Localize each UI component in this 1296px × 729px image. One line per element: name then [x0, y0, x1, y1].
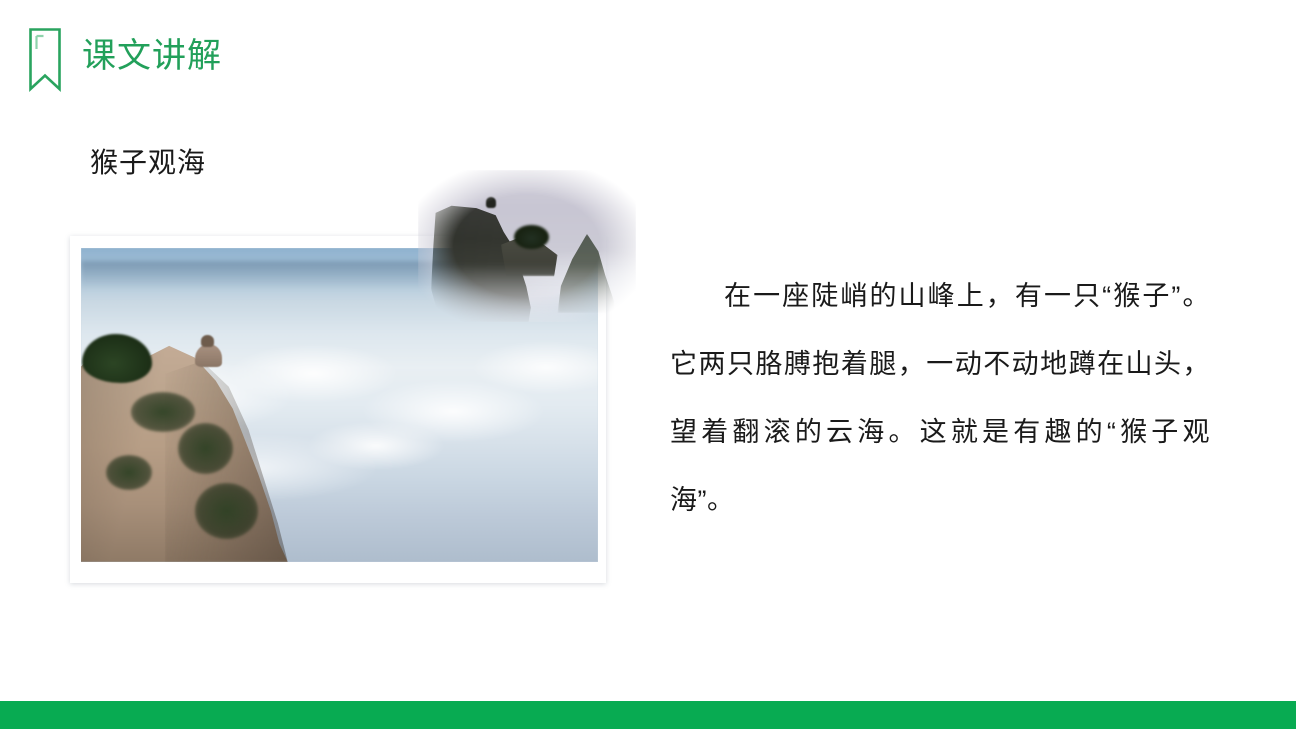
- cliff-vegetation-shape: [178, 423, 233, 474]
- slide-header: 课文讲解: [0, 0, 1296, 112]
- mist-layer: [418, 264, 636, 322]
- cliff-vegetation-shape: [106, 455, 153, 490]
- photo-group: [60, 160, 660, 600]
- cliff-vegetation-shape: [195, 483, 259, 539]
- monkey-rock-shape: [195, 344, 223, 367]
- bookmark-icon: [28, 27, 62, 92]
- peak-pine-shape: [514, 225, 549, 249]
- monkey-head-shape: [201, 335, 214, 347]
- page-title: 课文讲解: [82, 34, 222, 78]
- peak-monkey-shape: [486, 197, 497, 208]
- misty-peak-photo: [418, 170, 636, 322]
- lesson-paragraph: 在一座陡峭的山峰上，有一只“猴子”。它两只胳膊抱着腿，一动不动地蹲在山头，望着翻…: [670, 262, 1210, 534]
- cliff-treetop-shape: [82, 334, 152, 383]
- bottom-green-bar: [0, 701, 1296, 729]
- rock-cliff-layer: [81, 330, 288, 562]
- cliff-vegetation-shape: [131, 392, 195, 432]
- slide-root: 课文讲解 猴子观海: [0, 0, 1296, 729]
